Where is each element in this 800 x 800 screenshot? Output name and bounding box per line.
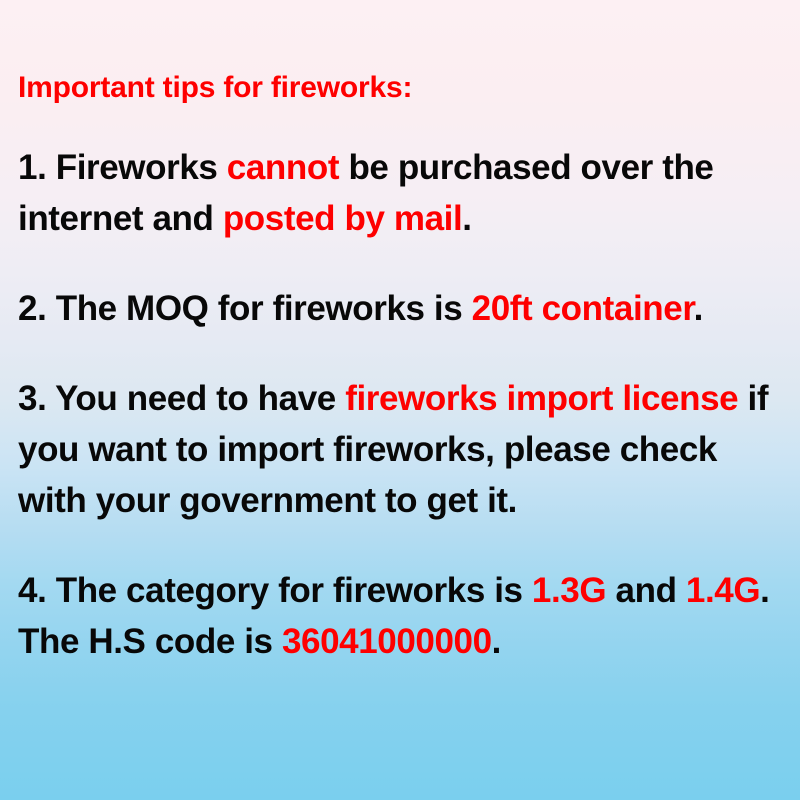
fireworks-tips-card: Important tips for fireworks: 1. Firewor…: [0, 0, 800, 800]
body-text: 3. You need to have: [18, 379, 345, 418]
body-text: .: [492, 622, 501, 661]
tip-item-2: 2. The MOQ for fireworks is 20ft contain…: [18, 244, 784, 334]
highlighted-text: 36041000000: [282, 622, 492, 661]
body-text: .: [462, 199, 471, 238]
highlighted-text: 1.4G: [686, 571, 760, 610]
body-text: 1. Fireworks: [18, 148, 227, 187]
tip-item-1: 1. Fireworks cannot be purchased over th…: [18, 106, 784, 244]
tip-item-3: 3. You need to have fireworks import lic…: [18, 334, 784, 526]
highlighted-text: cannot: [227, 148, 339, 187]
highlighted-text: 20ft container: [472, 289, 694, 328]
page-title: Important tips for fireworks:: [18, 0, 784, 106]
highlighted-text: fireworks import license: [345, 379, 738, 418]
highlighted-text: 1.3G: [532, 571, 606, 610]
body-text: 4. The category for fireworks is: [18, 571, 532, 610]
body-text: and: [606, 571, 686, 610]
tip-item-4: 4. The category for fireworks is 1.3G an…: [18, 526, 784, 667]
body-text: 2. The MOQ for fireworks is: [18, 289, 472, 328]
tips-list: 1. Fireworks cannot be purchased over th…: [18, 106, 784, 667]
body-text: .: [694, 289, 703, 328]
highlighted-text: posted by mail: [223, 199, 462, 238]
